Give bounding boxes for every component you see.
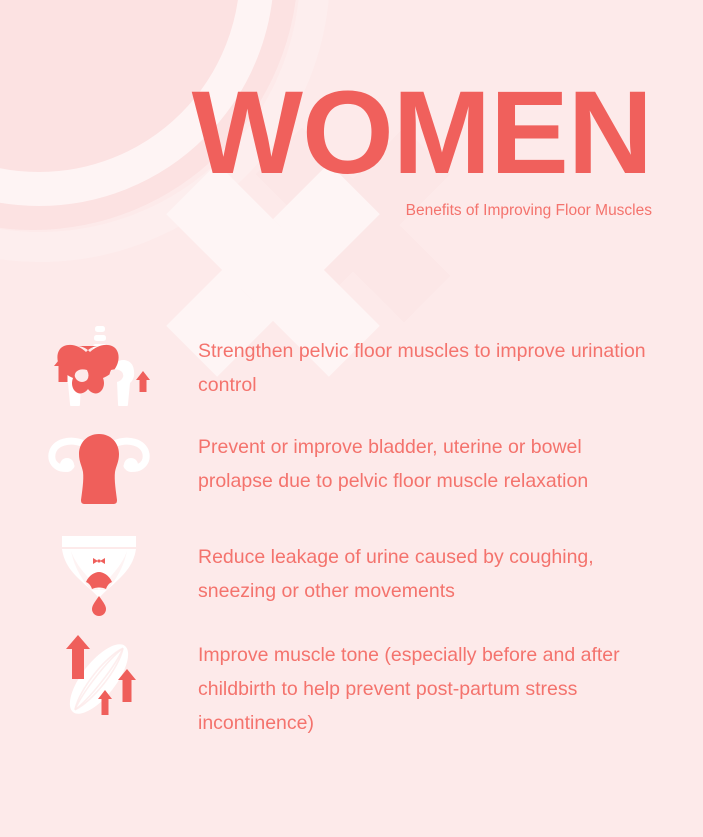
- benefit-icon-cell: [0, 528, 198, 620]
- page-title: WOMEN: [0, 74, 652, 192]
- benefits-list: Strengthen pelvic floor muscles to impro…: [0, 322, 703, 746]
- list-item: Reduce leakage of urine caused by coughi…: [0, 528, 703, 628]
- list-item: Improve muscle tone (especially before a…: [0, 628, 703, 746]
- list-item: Prevent or improve bladder, uterine or b…: [0, 418, 703, 528]
- muscle-fiber-up-arrows-icon: [44, 632, 154, 727]
- benefit-icon-cell: [0, 628, 198, 727]
- page-subtitle: Benefits of Improving Floor Muscles: [0, 200, 652, 222]
- benefit-text: Reduce leakage of urine caused by coughi…: [198, 528, 703, 608]
- benefit-icon-cell: [0, 322, 198, 406]
- infographic-poster: WOMEN Benefits of Improving Floor Muscle…: [0, 0, 703, 837]
- underwear-leak-drop-icon: [44, 532, 154, 620]
- benefit-text: Prevent or improve bladder, uterine or b…: [198, 418, 703, 498]
- benefit-text: Improve muscle tone (especially before a…: [198, 628, 703, 740]
- uterus-icon: [44, 422, 154, 512]
- list-item: Strengthen pelvic floor muscles to impro…: [0, 322, 703, 418]
- pelvis-up-arrows-icon: [44, 326, 154, 406]
- benefit-text: Strengthen pelvic floor muscles to impro…: [198, 322, 703, 402]
- benefit-icon-cell: [0, 418, 198, 512]
